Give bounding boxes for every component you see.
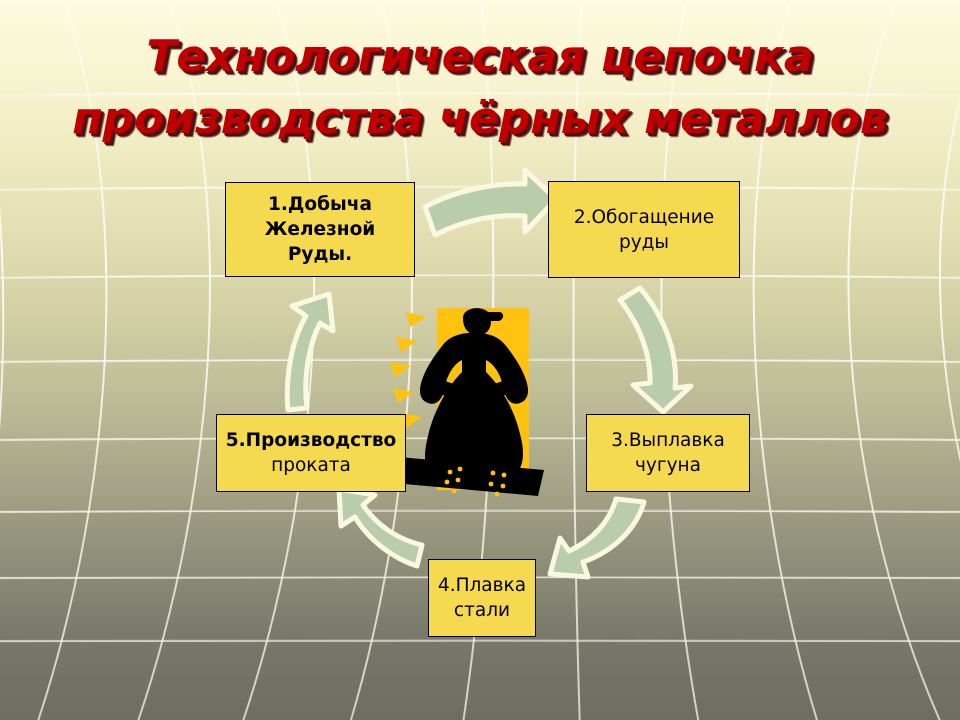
step-1-line-1: 1.Добыча <box>228 192 412 217</box>
step-box-2[interactable]: 2.Обогащение руды <box>548 181 740 278</box>
arrow-4-5-shape <box>339 489 422 566</box>
step-1-line-2: Железной <box>228 217 412 242</box>
arrow-5-1-shape <box>287 294 333 410</box>
step-2-line-1: 2.Обогащение <box>551 205 737 230</box>
arrow-2-3-shape <box>620 288 691 412</box>
arrow-3-4-shape <box>550 499 644 577</box>
step-5-line-2: проката <box>219 453 403 478</box>
step-box-5[interactable]: 5.Производство проката <box>216 414 406 492</box>
presentation-slide: Технологическая цепочка производства чёр… <box>0 0 960 720</box>
title-line-2: производства чёрных металлов <box>0 88 960 150</box>
spark-icons <box>390 312 426 428</box>
step-2-line-2: руды <box>551 230 737 255</box>
step-box-3[interactable]: 3.Выплавка чугуна <box>586 414 750 492</box>
step-4-line-1: 4.Плавка <box>431 573 533 598</box>
step-box-1[interactable]: 1.Добыча Железной Руды. <box>225 182 415 277</box>
step-5-line-1: 5.Производство <box>219 428 403 453</box>
title-line-1: Технологическая цепочка <box>0 26 960 88</box>
step-3-line-2: чугуна <box>589 453 747 478</box>
step-3-line-1: 3.Выплавка <box>589 428 747 453</box>
slide-title: Технологическая цепочка производства чёр… <box>0 26 960 150</box>
step-box-4[interactable]: 4.Плавка стали <box>428 559 536 637</box>
arrow-1-2-shape <box>425 170 556 235</box>
step-1-line-3: Руды. <box>228 242 412 267</box>
step-4-line-2: стали <box>431 598 533 623</box>
